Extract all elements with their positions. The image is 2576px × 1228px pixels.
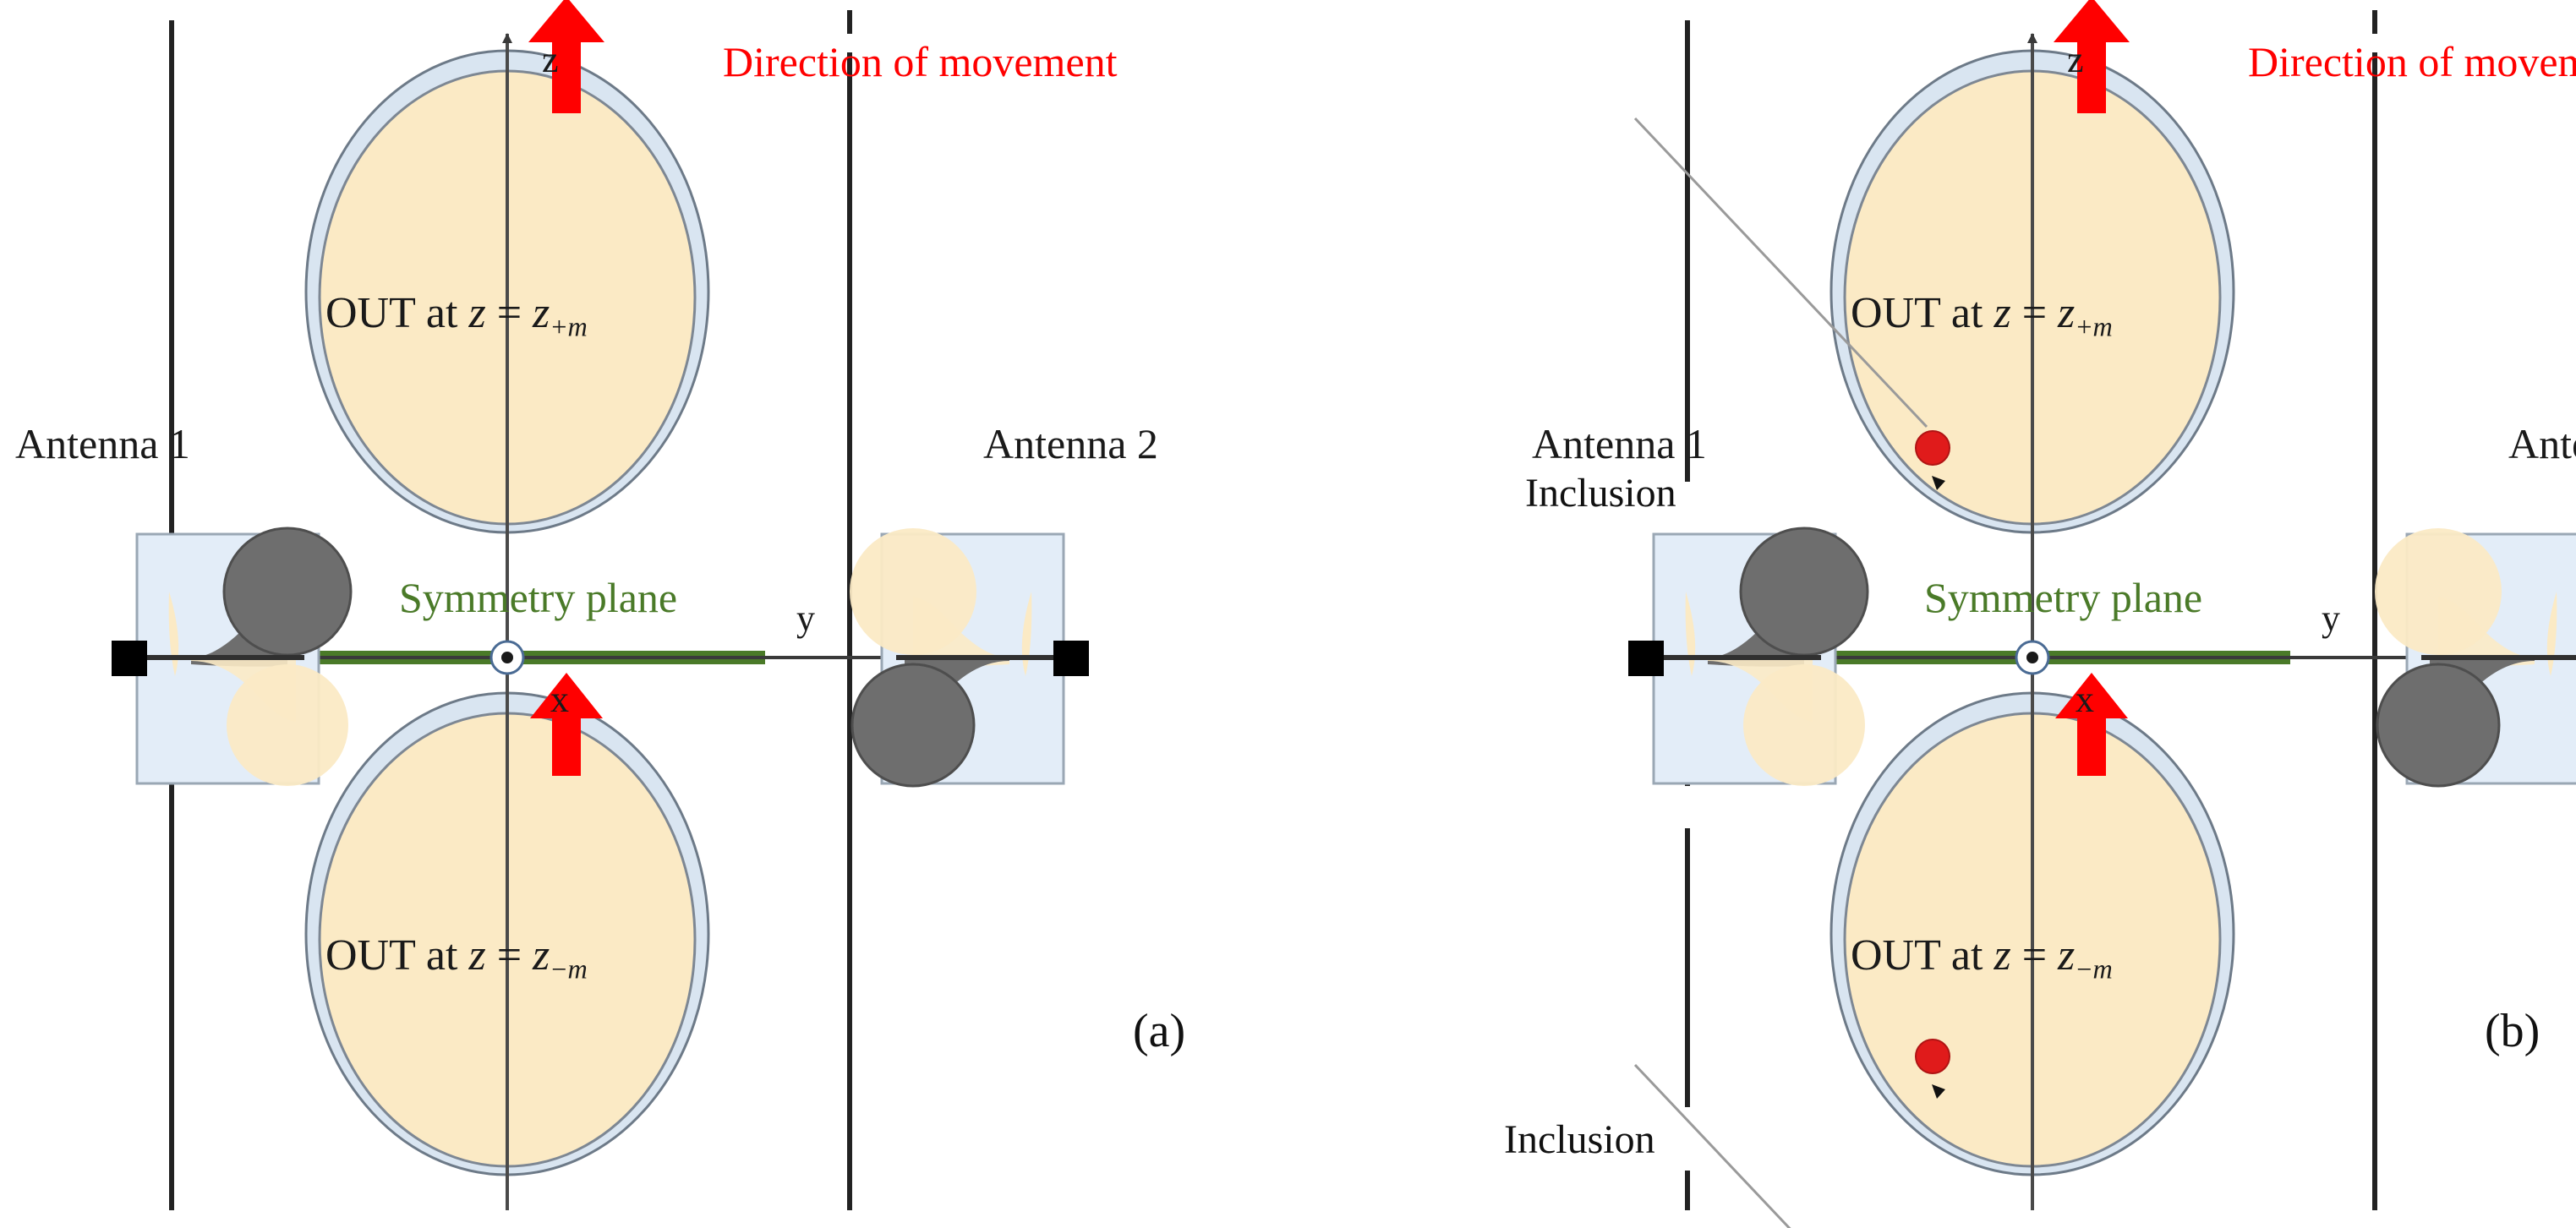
y-axis-label: y <box>796 600 815 637</box>
antenna-1-light-lobe <box>1743 664 1865 786</box>
x-axis-label: x <box>550 681 569 718</box>
out-bottom-sub: −m <box>2075 953 2112 984</box>
antenna-1-label: Antenna 1 <box>1532 423 1707 465</box>
antenna-1-icon[interactable] <box>1628 528 1868 786</box>
origin-marker <box>491 641 523 674</box>
out-bottom-prefix: OUT at <box>1851 931 1994 980</box>
out-bottom-label: OUT at z = z−m <box>1851 934 2112 983</box>
symmetry-plane-label: Symmetry plane <box>1924 576 2202 619</box>
out-bottom-var2: z <box>2058 931 2075 980</box>
out-bottom-var: z <box>1994 931 2010 980</box>
out-bottom-var2: z <box>533 931 550 980</box>
figure-root: Antenna 1 Antenna 2 Direction of movemen… <box>0 0 2576 1228</box>
z-axis-label: z <box>542 41 559 79</box>
out-bottom-eq: = <box>2011 931 2058 980</box>
inclusion-top-label: Inclusion <box>1525 473 1676 514</box>
origin-marker <box>2016 641 2048 674</box>
out-top-prefix: OUT at <box>1851 289 1994 337</box>
out-top-var2: z <box>2058 289 2075 337</box>
antenna-2-connector <box>1053 641 1089 676</box>
out-top-eq: = <box>2011 289 2058 337</box>
out-top-sub: +m <box>2075 311 2112 341</box>
panel-b: Antenna 1 Antenna 2 Direction of movemen… <box>1288 0 2576 1228</box>
out-top-prefix: OUT at <box>325 289 468 337</box>
out-top-var: z <box>1994 289 2010 337</box>
antenna-1-connector <box>112 641 147 676</box>
direction-of-movement-label: Direction of movement <box>2248 41 2576 83</box>
out-top-sub: +m <box>550 311 587 341</box>
antenna-2-light-lobe <box>850 528 976 655</box>
symmetry-plane-label: Symmetry plane <box>399 576 677 619</box>
antenna-1-label: Antenna 1 <box>15 423 190 465</box>
z-axis-label: z <box>2067 41 2084 79</box>
out-top-eq: = <box>486 289 533 337</box>
out-top-label: OUT at z = z+m <box>325 292 587 341</box>
inclusion-top-dot <box>1916 431 1950 465</box>
y-axis-label: y <box>2322 600 2340 637</box>
inclusion-bottom-dot <box>1916 1040 1950 1073</box>
antenna-1-light-lobe <box>227 664 348 786</box>
antenna-2-light-lobe <box>2375 528 2502 655</box>
panel-a-caption: (a) <box>1133 1007 1185 1055</box>
direction-of-movement-label: Direction of movement <box>723 41 1118 83</box>
out-bottom-sub: −m <box>550 953 587 984</box>
antenna-2-dark-lobe <box>2377 664 2499 786</box>
out-top-label: OUT at z = z+m <box>1851 292 2112 341</box>
panel-a: Antenna 1 Antenna 2 Direction of movemen… <box>0 0 1288 1228</box>
out-bottom-var: z <box>468 931 485 980</box>
antenna-1-dark-lobe <box>224 528 351 655</box>
antenna-1-connector <box>1628 641 1664 676</box>
x-axis-label: x <box>2076 681 2094 718</box>
antenna-2-dark-lobe <box>852 664 974 786</box>
antenna-1-dark-lobe <box>1741 528 1868 655</box>
antenna-2-icon[interactable] <box>850 528 1089 786</box>
antenna-2-label: Antenna 2 <box>983 423 1158 465</box>
panel-b-caption: (b) <box>2485 1007 2540 1055</box>
out-top-var: z <box>468 289 485 337</box>
out-bottom-eq: = <box>486 931 533 980</box>
inclusion-bottom-label: Inclusion <box>1504 1120 1655 1160</box>
antenna-1-icon[interactable] <box>112 528 351 786</box>
out-bottom-label: OUT at z = z−m <box>325 934 587 983</box>
antenna-2-label: Antenna 2 <box>2508 423 2576 465</box>
out-bottom-prefix: OUT at <box>325 931 468 980</box>
out-top-var2: z <box>533 289 550 337</box>
